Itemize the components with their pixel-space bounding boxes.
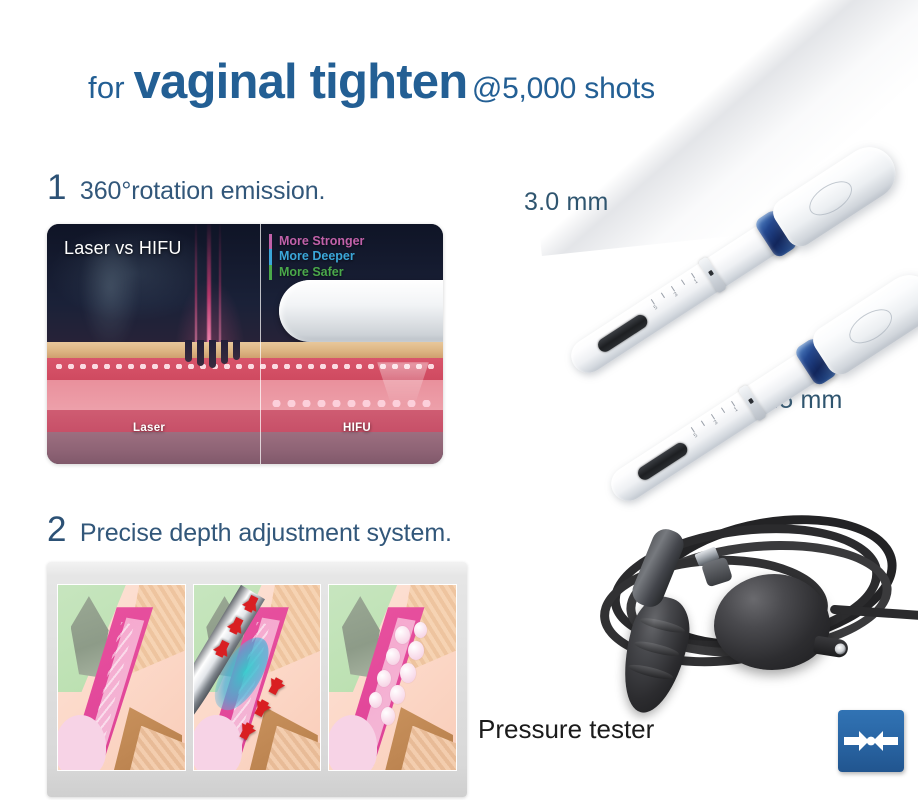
balloon-ridge (633, 639, 680, 659)
feature-text-1: 360°rotation emission. (80, 177, 325, 205)
page-title-main: vaginal tighten (134, 55, 468, 109)
depth-adjustment-illustration-strip (47, 562, 467, 797)
probe-emission-window (595, 312, 650, 354)
feature-heading-1: 1 360°rotation emission. (47, 170, 325, 205)
page-title-prefix: for (88, 70, 134, 105)
balloon-ridge (627, 662, 674, 682)
probe-graduation-mark: 3 (673, 292, 679, 299)
hifu-probe-tip-illustration (279, 280, 443, 342)
probe-blue-ring (793, 336, 839, 387)
feature-heading-2: 2 Precise depth adjustment system. (47, 512, 452, 547)
card-footer-label-hifu: HIFU (343, 422, 371, 434)
card-title: Laser vs HIFU (64, 238, 182, 259)
page-corner-shadow (497, 0, 918, 256)
probe-graduation-mark: 5 (653, 305, 659, 312)
laser-beam (195, 224, 197, 350)
probe-depth-label-3mm: 3.0 mm (524, 188, 609, 217)
anatomy-panel-after (328, 584, 457, 771)
laser-vs-hifu-card: Laser vs HIFU More Stronger More Deeper … (47, 224, 443, 464)
tightened-tissue-bump (369, 692, 382, 708)
probe-handle (768, 137, 905, 251)
tissue-smas-layer (47, 410, 443, 432)
card-center-divider (260, 224, 261, 464)
card-benefit-list: More Stronger More Deeper More Safer (269, 234, 364, 280)
tightened-tissue-bump (400, 663, 416, 683)
probe-graduation-mark: 1 (693, 279, 699, 286)
probe-graduation-mark: 5 (693, 433, 699, 440)
laser-crater (221, 340, 228, 364)
probe-graduation-mark: 1 (733, 407, 739, 414)
laser-beam (207, 224, 211, 352)
probe-shaft: 5 3 1 (565, 224, 778, 379)
laser-crater (185, 340, 192, 362)
laser-crater (197, 340, 204, 366)
tightened-tissue-bump (390, 685, 405, 704)
benefit-label: More Safer (279, 265, 344, 279)
probe-handle (808, 265, 918, 379)
laser-mist (81, 246, 139, 350)
benefit-item: More Stronger (269, 234, 364, 249)
benefit-item: More Deeper (269, 249, 364, 264)
laser-crater (209, 340, 216, 368)
feature-number-2: 2 (47, 510, 66, 549)
laser-crater (233, 340, 240, 360)
feature-text-2: Precise depth adjustment system. (80, 519, 452, 547)
balloon-ridge (639, 615, 686, 635)
hifu-focal-points (269, 400, 437, 407)
laser-beam (219, 224, 221, 344)
probe-depth-collar (698, 256, 727, 293)
tester-rubber-bulb (714, 574, 830, 670)
benefit-item: More Safer (269, 265, 364, 280)
benefit-label: More Deeper (279, 249, 355, 263)
card-footer-label-laser: Laser (133, 422, 165, 434)
probe-shaft: 5 3 1 (605, 352, 818, 507)
tissue-muscle-layer (47, 432, 443, 464)
tissue-epidermis-layer (47, 342, 443, 358)
tester-air-valve (813, 635, 849, 658)
hifu-probe-handpiece-3mm: 5 3 1 (565, 144, 905, 385)
page-title-suffix: @5,000 shots (472, 72, 655, 105)
probe-graduation-mark: 3 (713, 420, 719, 427)
feature-number-1: 1 (47, 168, 66, 207)
probe-blue-ring (753, 208, 799, 259)
tightened-tissue-bump (408, 641, 424, 660)
pressure-tester-label: Pressure tester (478, 714, 654, 745)
anatomy-panel-treatment (193, 584, 322, 771)
compress-inward-icon (838, 710, 904, 772)
tightened-tissue-bump (395, 626, 410, 644)
anatomy-panel-before (57, 584, 186, 771)
probe-emission-window (635, 440, 690, 482)
page-title: for vaginal tighten @5,000 shots (88, 58, 655, 107)
pressure-tester-photo (592, 500, 918, 730)
benefit-label: More Stronger (279, 234, 364, 248)
probe-depth-label-4.5mm: 4.5 mm (758, 386, 843, 415)
